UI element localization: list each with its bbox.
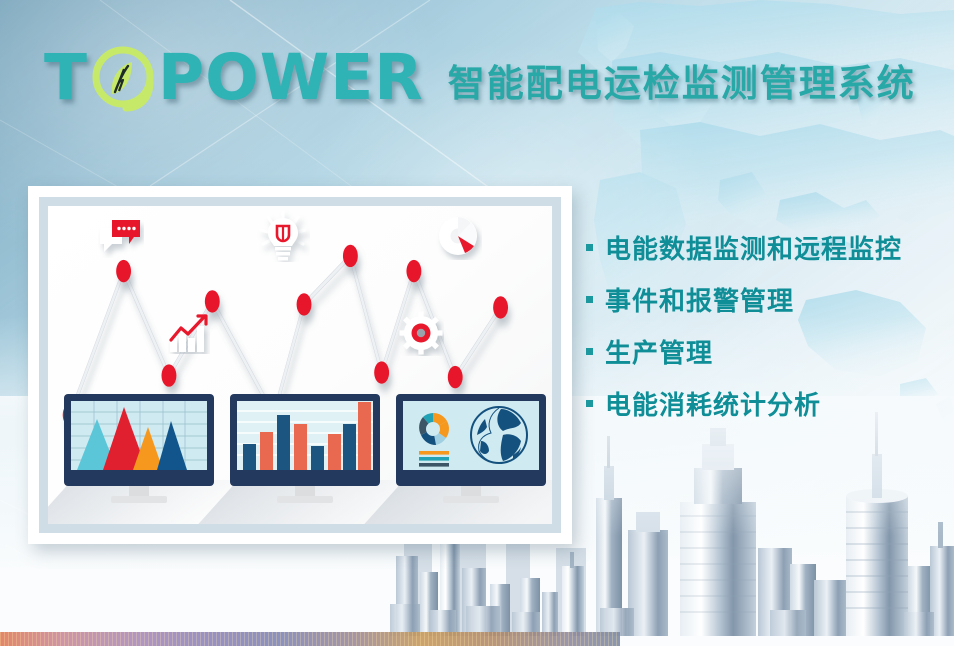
chat-bubble-icon bbox=[98, 218, 144, 263]
monitor-base bbox=[443, 496, 499, 503]
list-item: 电能消耗统计分析 bbox=[586, 385, 902, 422]
feature-label: 生产管理 bbox=[605, 333, 713, 370]
leaf-power-at-icon bbox=[88, 42, 158, 112]
list-item: 事件和报警管理 bbox=[586, 281, 902, 318]
monitor-screen bbox=[71, 401, 207, 470]
feature-label: 电能数据监测和远程监控 bbox=[605, 229, 902, 266]
monitor-bar-chart bbox=[230, 394, 380, 503]
page-title: 智能配电运检监测管理系统 bbox=[448, 53, 916, 107]
list-item: 生产管理 bbox=[586, 333, 902, 370]
brand-header: T POWER 智能配电运检监测管理系统 bbox=[44, 42, 916, 112]
list-item: 电能数据监测和远程监控 bbox=[586, 229, 902, 266]
monitor-bezel bbox=[64, 394, 214, 486]
feature-label: 事件和报警管理 bbox=[605, 281, 794, 318]
feature-label: 电能消耗统计分析 bbox=[605, 385, 821, 422]
monitor-screen bbox=[237, 401, 373, 470]
gear-icon bbox=[398, 310, 444, 361]
pie-chart-icon bbox=[436, 214, 482, 265]
lightbulb-icon bbox=[256, 210, 310, 267]
panel-inner-border bbox=[39, 197, 561, 533]
logo-topower: T POWER bbox=[44, 42, 424, 112]
illustration-canvas bbox=[48, 206, 552, 524]
bullet-square-icon bbox=[586, 400, 593, 407]
feature-list: 电能数据监测和远程监控 事件和报警管理 生产管理 电能消耗统计分析 bbox=[586, 229, 902, 422]
monitor-area-chart bbox=[64, 394, 214, 503]
night-cityscape-strip bbox=[0, 632, 620, 646]
illustration-panel bbox=[28, 186, 572, 544]
monitor-screen bbox=[403, 401, 539, 470]
bullet-square-icon bbox=[586, 244, 593, 251]
monitor-neck bbox=[461, 486, 481, 496]
logo-suffix: POWER bbox=[158, 46, 424, 109]
monitor-row bbox=[64, 394, 548, 512]
poster-stage: T POWER 智能配电运检监测管理系统 电能数据监测和远程监控 事件和报警管理 bbox=[0, 0, 954, 646]
bullet-square-icon bbox=[586, 296, 593, 303]
monitor-base bbox=[277, 496, 333, 503]
bullet-square-icon bbox=[586, 348, 593, 355]
monitor-dashboard-globe bbox=[396, 394, 546, 503]
bar-chart-icon bbox=[168, 314, 210, 359]
logo-prefix: T bbox=[44, 46, 88, 109]
monitor-bezel bbox=[230, 394, 380, 486]
monitor-bezel bbox=[396, 394, 546, 486]
monitor-neck bbox=[129, 486, 149, 496]
monitor-base bbox=[111, 496, 167, 503]
monitor-neck bbox=[295, 486, 315, 496]
